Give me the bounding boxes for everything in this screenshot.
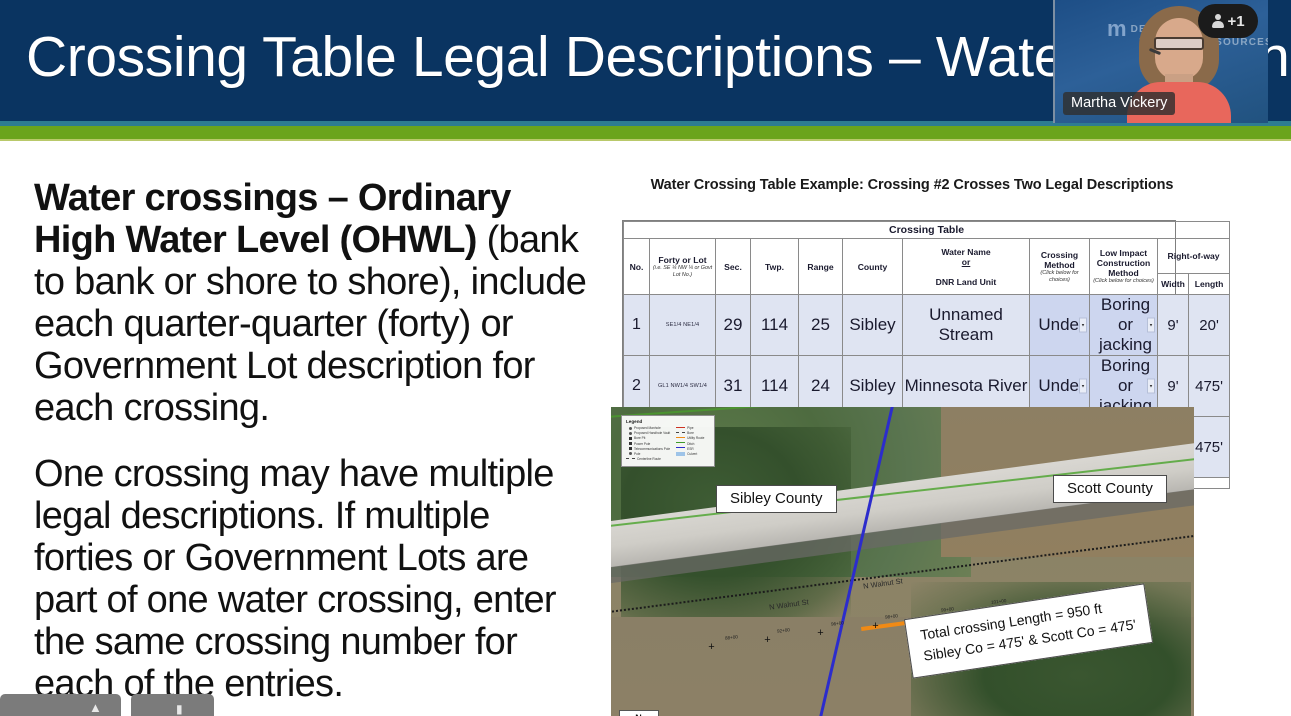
legend-item: Power Pole: [626, 442, 670, 446]
th-low-impact: Low Impact Construction Method (Click be…: [1090, 239, 1158, 295]
legend-item: Bore: [676, 431, 704, 435]
legend-item: Pole: [626, 452, 670, 456]
legend-item-label: Centerline Route: [637, 457, 661, 461]
manhole-icon: [629, 427, 632, 430]
th-low-impact-sub: (Click below for choices): [1090, 278, 1157, 285]
th-water-name-l2: or: [962, 257, 971, 267]
legend-item: Proposed Manhole: [626, 426, 670, 430]
legend-item-label: Telecommunications Pole: [634, 447, 670, 451]
legend-item: Pipe: [676, 426, 704, 430]
map-legend: Legend Proposed Manhole Proposed Handhol…: [621, 415, 715, 467]
th-water-name-l3: DNR Land Unit: [936, 277, 997, 287]
cell-water-name: Unnamed Stream: [903, 295, 1030, 356]
culvert-icon: [676, 452, 685, 456]
chevron-down-icon[interactable]: ▾: [1079, 379, 1087, 394]
cell-no: 1: [624, 295, 650, 356]
camera-icon: ▲: [89, 701, 105, 714]
th-crossing-method-sub: (Click below for choices): [1030, 270, 1089, 284]
cell-range: 25: [799, 295, 843, 356]
cell-low-impact-value: Boring or jacking: [1099, 295, 1152, 354]
th-forty-or-lot-sub: (i.e. SE ¼ NW ¼ or Govt Lot No.): [650, 265, 715, 278]
paragraph-one-bold: Water crossings – Ordinary High Water Le…: [34, 177, 511, 261]
cell-width: 9': [1158, 295, 1189, 356]
slide-viewer: Crossing Table Legal Descriptions – Wate…: [0, 0, 1291, 716]
cell-length: 475': [1189, 356, 1230, 417]
callout-sibley-county: Sibley County: [716, 485, 837, 513]
legend-item: Bore Pit: [626, 436, 670, 440]
legend-item-label: Power Pole: [634, 442, 650, 446]
toolbar-button-primary[interactable]: ▲: [0, 694, 121, 716]
participant-name-label: Martha Vickery: [1063, 92, 1175, 115]
th-right-of-way: Right-of-way: [1158, 239, 1230, 274]
table-title-row: Crossing Table: [624, 222, 1230, 239]
th-twp: Twp.: [751, 239, 799, 295]
legend-item: Telecommunications Pole: [626, 447, 670, 451]
participant-count-badge[interactable]: +1: [1198, 4, 1258, 38]
legend-item-label: Proposed Manhole: [634, 426, 661, 430]
legend-item: ESR: [676, 447, 704, 451]
pipe-icon: [676, 427, 685, 430]
table-title: Crossing Table: [624, 222, 1230, 239]
th-water-name-l1: Water Name: [941, 247, 990, 257]
cell-length: 475': [1189, 417, 1230, 478]
map-legend-title: Legend: [626, 419, 710, 424]
legend-item-label: Pipe: [687, 426, 693, 430]
callout-scott-county: Scott County: [1053, 475, 1167, 503]
th-forty-or-lot: Forty or Lot (i.e. SE ¼ NW ¼ or Govt Lot…: [650, 239, 716, 295]
paragraph-two: One crossing may have multiple legal des…: [34, 453, 589, 705]
legend-item: Culvert: [676, 452, 704, 456]
cell-county: Sibley: [843, 295, 903, 356]
participant-count-label: +1: [1227, 13, 1244, 30]
slide-figure-column: Water Crossing Table Example: Crossing #…: [610, 177, 1200, 490]
th-sec: Sec.: [716, 239, 751, 295]
cell-sec: 29: [716, 295, 751, 356]
legend-item: Proposed Handhole Vault: [626, 431, 670, 435]
th-crossing-method: Crossing Method (Click below for choices…: [1030, 239, 1090, 295]
cell-crossing-method-value: Under: [1038, 315, 1084, 334]
crossing-map-image: 88+00 92+00 96+00 98+00 99+00 101+00 Leg…: [611, 407, 1194, 716]
cell-crossing-method-dropdown[interactable]: Under▾: [1030, 295, 1090, 356]
legend-item: Utility Route: [676, 436, 704, 440]
cell-length: 20': [1189, 295, 1230, 356]
esr-icon: [676, 447, 685, 450]
north-arrow-label: N: [635, 713, 643, 716]
th-crossing-method-label: Crossing Method: [1041, 250, 1078, 270]
legend-item-label: Proposed Handhole Vault: [634, 431, 670, 435]
legend-item-label: Pole: [634, 452, 640, 456]
cell-twp: 114: [751, 295, 799, 356]
north-arrow-icon: N: [619, 710, 659, 716]
legend-item-label: Bore Pit: [634, 436, 645, 440]
utility-route-icon: [676, 437, 685, 440]
paragraph-one: Water crossings – Ordinary High Water Le…: [34, 177, 589, 429]
legend-item-label: Ditch: [687, 442, 694, 446]
th-no: No.: [624, 239, 650, 295]
slide-text-column: Water crossings – Ordinary High Water Le…: [34, 177, 589, 705]
legend-item: Ditch: [676, 442, 704, 446]
video-participant-tile[interactable]: mDEPARTMENT OF NATURAL RESOURCES +1 Mart…: [1053, 0, 1268, 123]
power-pole-icon: [629, 442, 632, 445]
pole-icon: [629, 452, 632, 455]
centerline-route-icon: [626, 458, 635, 461]
glasses-icon: [1154, 37, 1204, 50]
bore-icon: [676, 432, 685, 435]
ditch-icon: [676, 442, 685, 445]
header-rule-green: [0, 126, 1291, 139]
table-header-row: No. Forty or Lot (i.e. SE ¼ NW ¼ or Govt…: [624, 239, 1230, 274]
table-caption: Water Crossing Table Example: Crossing #…: [624, 177, 1200, 193]
slide-body: Water crossings – Ordinary High Water Le…: [0, 141, 1291, 716]
share-icon: ▮: [176, 703, 186, 715]
legend-item-label: Bore: [687, 431, 694, 435]
telecom-pole-icon: [629, 447, 632, 450]
th-length: Length: [1189, 273, 1230, 294]
cell-low-impact-dropdown[interactable]: Boring or jacking▾: [1090, 295, 1158, 356]
cell-legal: SE1/4 NE1/4: [650, 295, 716, 356]
th-width: Width: [1158, 273, 1189, 294]
person-icon: [1211, 14, 1224, 29]
th-low-impact-label: Low Impact Construction Method: [1097, 248, 1150, 278]
legend-item-label: Utility Route: [687, 436, 704, 440]
handhole-icon: [629, 432, 632, 435]
cell-crossing-method-value: Under: [1038, 376, 1084, 395]
legend-item-label: ESR: [687, 447, 694, 451]
th-range: Range: [799, 239, 843, 295]
chevron-down-icon[interactable]: ▾: [1147, 379, 1155, 394]
th-forty-or-lot-label: Forty or Lot: [658, 255, 706, 265]
dnr-logo-mark: m: [1107, 22, 1126, 35]
chevron-down-icon[interactable]: ▾: [1147, 318, 1155, 333]
chevron-down-icon[interactable]: ▾: [1079, 318, 1087, 333]
bore-pit-icon: [629, 437, 632, 440]
toolbar-button-secondary[interactable]: ▮: [131, 694, 214, 716]
legend-item-label: Culvert: [687, 452, 697, 456]
table-row[interactable]: 1 SE1/4 NE1/4 29 114 25 Sibley Unnamed S…: [624, 295, 1230, 356]
th-water-name: Water Name or DNR Land Unit: [903, 239, 1030, 295]
th-county: County: [843, 239, 903, 295]
legend-item: Centerline Route: [626, 457, 670, 461]
